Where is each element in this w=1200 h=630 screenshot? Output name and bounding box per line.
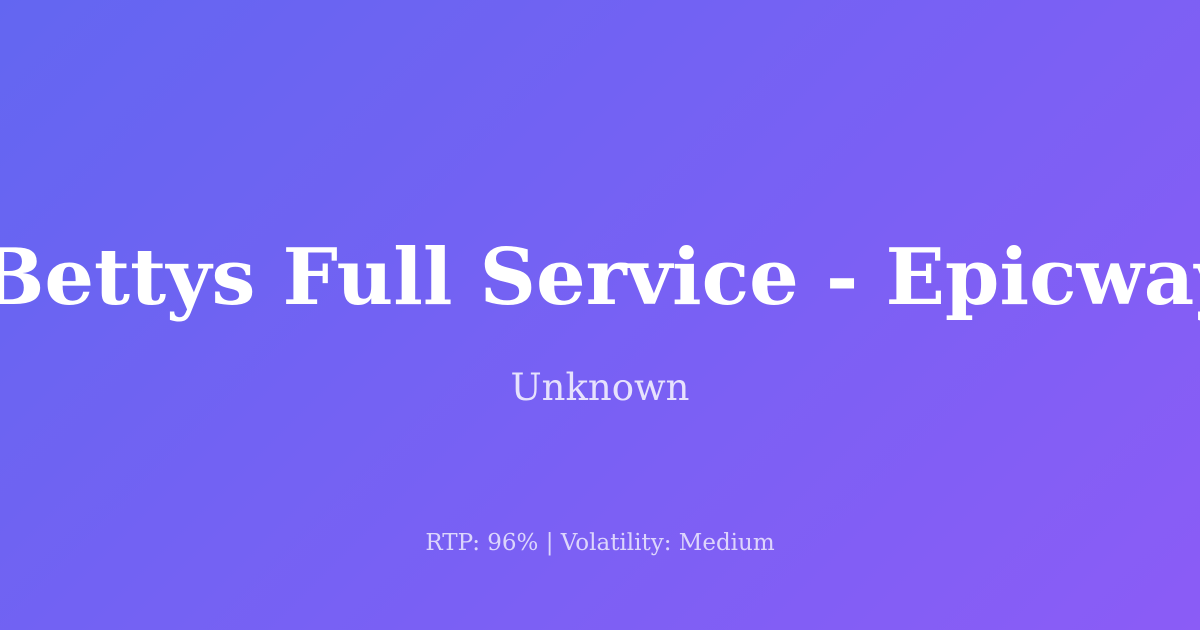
title-row: F 0 Bettys Full Service - Epicways	[0, 234, 1200, 321]
provider-subtitle: Unknown	[0, 366, 1200, 410]
og-share-card: F 0 Bettys Full Service - Epicways Unkno…	[0, 0, 1200, 630]
game-meta-line: RTP: 96% | Volatility: Medium	[0, 528, 1200, 558]
page-title: Bettys Full Service - Epicways	[0, 234, 1200, 321]
